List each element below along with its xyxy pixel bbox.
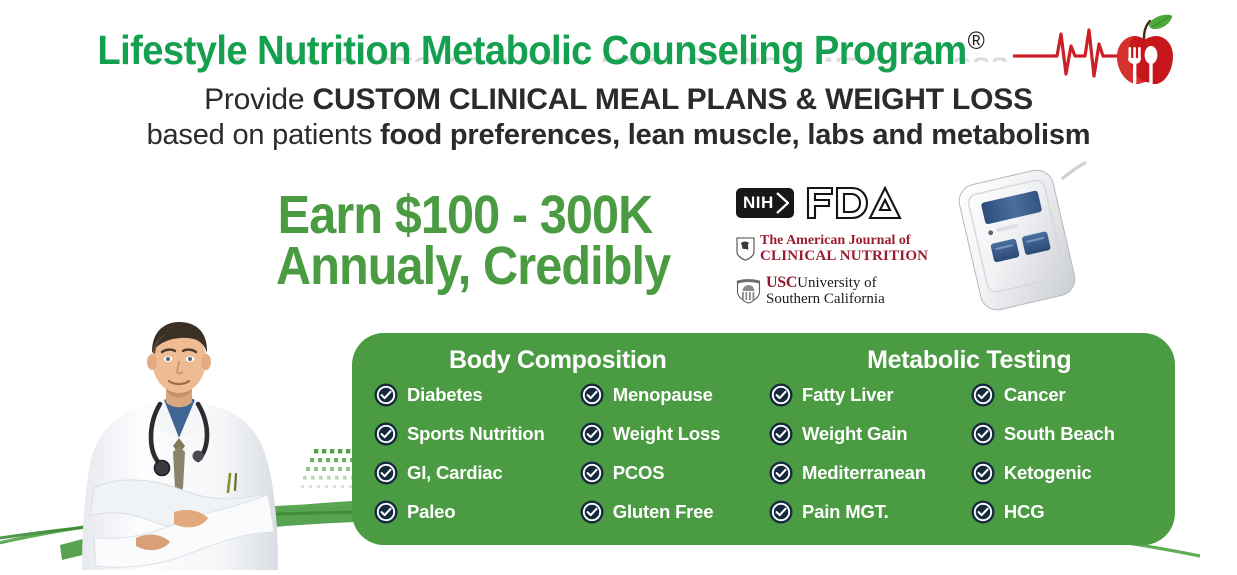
nih-logo: NIH — [736, 188, 794, 218]
list-item-label: PCOS — [613, 462, 665, 484]
list-item-label: Cancer — [1004, 384, 1066, 406]
list-item[interactable]: PCOS — [580, 461, 769, 485]
journal-line-2: CLINICAL NUTRITION — [760, 249, 928, 265]
check-circle-icon — [374, 461, 398, 485]
check-circle-icon — [580, 500, 604, 524]
list-item[interactable]: Cancer — [971, 383, 1165, 407]
usc-mark: USC — [766, 274, 797, 291]
list-item-label: Gluten Free — [613, 501, 714, 523]
heading-body-composition: Body Composition — [352, 346, 764, 375]
ekg-apple-fork-spoon-logo — [1013, 14, 1173, 86]
usc-text: USCUniversity of Southern California — [766, 274, 885, 307]
list-item[interactable]: Menopause — [580, 383, 769, 407]
check-circle-icon — [971, 500, 995, 524]
chevron-right-icon — [776, 192, 789, 214]
subtitle-line-1: Provide CUSTOM CLINICAL MEAL PLANS & WEI… — [0, 82, 1237, 118]
american-journal-logo: The American Journal of CLINICAL NUTRITI… — [736, 234, 936, 265]
list-item-label: Menopause — [613, 384, 713, 406]
list-item[interactable]: HCG — [971, 500, 1165, 524]
journal-line-1: The American Journal of — [760, 234, 928, 249]
nih-label: NIH — [743, 193, 774, 213]
title-row: Lifestyle Nutrition Metabolic Counseling… — [0, 14, 1237, 86]
list-item[interactable]: Mediterranean — [769, 461, 971, 485]
subtitle-1-bold: CUSTOM CLINICAL MEAL PLANS & WEIGHT LOSS — [313, 83, 1033, 116]
subtitle-1-regular: Provide — [204, 83, 312, 116]
list-item-label: Mediterranean — [802, 462, 926, 484]
list-item-label: South Beach — [1004, 423, 1115, 445]
list-item-label: Pain MGT. — [802, 501, 889, 523]
list-item-label: Fatty Liver — [802, 384, 893, 406]
list-item[interactable]: Ketogenic — [971, 461, 1165, 485]
usc-line-1: USCUniversity of — [766, 274, 885, 291]
list-item-label: Weight Loss — [613, 423, 720, 445]
registered-mark-icon: ® — [967, 27, 984, 55]
credential-row-agencies: NIH — [736, 180, 936, 226]
list-item[interactable]: Paleo — [374, 500, 580, 524]
column-metabolic-testing-2: Cancer South Beach Ketogenic — [971, 383, 1165, 524]
subtitle-2-bold: food preferences, lean muscle, labs and … — [380, 119, 1090, 151]
check-circle-icon — [580, 461, 604, 485]
handheld-metabolic-analyzer — [945, 160, 1090, 315]
list-item-label: Diabetes — [407, 384, 483, 406]
doctor-photo — [78, 312, 284, 570]
header: Provide CUSTOM CLINICAL MEAL PLANS & WEI… — [0, 0, 1237, 160]
list-item-label: HCG — [1004, 501, 1045, 523]
list-item[interactable]: South Beach — [971, 422, 1165, 446]
usc-line-1-rest: University of — [797, 275, 877, 291]
earn-line-1: Earn $100 - 300K — [276, 190, 654, 241]
page-title-text: Lifestyle Nutrition Metabolic Counseling… — [97, 27, 966, 73]
usc-logo: USCUniversity of Southern California — [736, 274, 936, 307]
column-metabolic-testing-1: Fatty Liver Weight Gain Mediterranean — [769, 383, 971, 524]
usc-line-2: Southern California — [766, 291, 885, 307]
usc-shield-icon — [736, 277, 761, 304]
check-circle-icon — [971, 383, 995, 407]
check-circle-icon — [580, 422, 604, 446]
check-circle-icon — [374, 383, 398, 407]
list-item-label: GI, Cardiac — [407, 462, 502, 484]
list-item[interactable]: Diabetes — [374, 383, 580, 407]
check-circle-icon — [374, 422, 398, 446]
list-item[interactable]: Gluten Free — [580, 500, 769, 524]
card-headings: Body Composition Metabolic Testing — [352, 346, 1175, 375]
list-item[interactable]: Pain MGT. — [769, 500, 971, 524]
check-circle-icon — [769, 500, 793, 524]
journal-shield-icon — [736, 237, 755, 261]
list-item-label: Weight Gain — [802, 423, 907, 445]
check-circle-icon — [769, 422, 793, 446]
subtitle-line-2: based on patients food preferences, lean… — [0, 118, 1237, 152]
list-item[interactable]: Weight Gain — [769, 422, 971, 446]
page-title: Lifestyle Nutrition Metabolic Counseling… — [97, 27, 984, 73]
column-body-composition-2: Menopause Weight Loss PCOS — [580, 383, 769, 524]
check-circle-icon — [374, 500, 398, 524]
services-card: Body Composition Metabolic Testing Diabe… — [352, 333, 1175, 545]
heading-metabolic-testing: Metabolic Testing — [764, 346, 1176, 375]
column-body-composition-1: Diabetes Sports Nutrition GI, Cardiac — [374, 383, 580, 524]
check-circle-icon — [769, 461, 793, 485]
credential-logos: NIH The American Journal of CLINICAL NUT… — [736, 180, 936, 307]
check-circle-icon — [580, 383, 604, 407]
list-item[interactable]: Sports Nutrition — [374, 422, 580, 446]
subtitle-2-regular: based on patients — [147, 119, 380, 151]
fda-logo — [806, 184, 902, 222]
list-item[interactable]: Weight Loss — [580, 422, 769, 446]
earn-line-2: Annualy, Credibly — [276, 241, 654, 292]
earn-headline: Earn $100 - 300K Annualy, Credibly — [255, 190, 675, 292]
journal-text: The American Journal of CLINICAL NUTRITI… — [760, 234, 928, 265]
card-columns: Diabetes Sports Nutrition GI, Cardiac — [374, 383, 1165, 524]
check-circle-icon — [769, 383, 793, 407]
list-item[interactable]: Fatty Liver — [769, 383, 971, 407]
check-circle-icon — [971, 461, 995, 485]
check-circle-icon — [971, 422, 995, 446]
list-item-label: Ketogenic — [1004, 462, 1092, 484]
list-item-label: Sports Nutrition — [407, 423, 545, 445]
list-item[interactable]: GI, Cardiac — [374, 461, 580, 485]
list-item-label: Paleo — [407, 501, 455, 523]
